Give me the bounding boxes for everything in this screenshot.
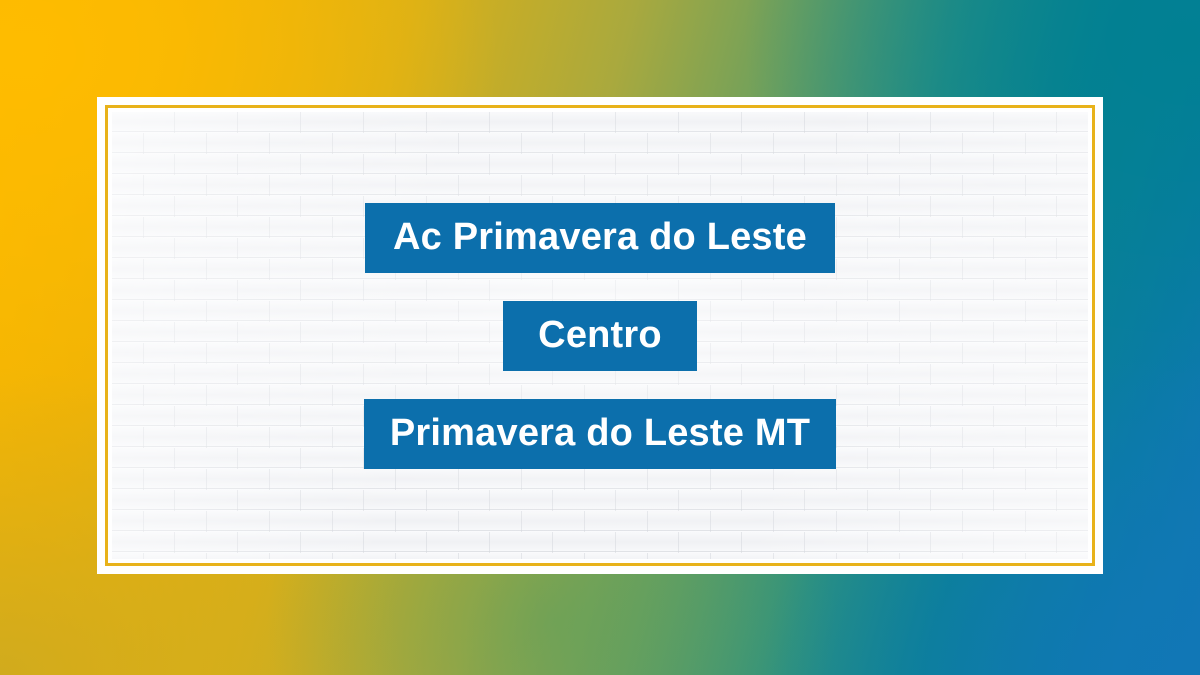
poster-canvas: Ac Primavera do Leste Centro Primavera d…	[0, 0, 1200, 675]
poster-card: Ac Primavera do Leste Centro Primavera d…	[97, 97, 1103, 574]
card-accent-border: Ac Primavera do Leste Centro Primavera d…	[105, 105, 1095, 566]
plate-stack: Ac Primavera do Leste Centro Primavera d…	[112, 112, 1088, 559]
plate-city-state: Primavera do Leste MT	[364, 399, 836, 469]
card-surface: Ac Primavera do Leste Centro Primavera d…	[112, 112, 1088, 559]
plate-neighborhood: Centro	[503, 301, 697, 371]
plate-title: Ac Primavera do Leste	[365, 203, 835, 273]
